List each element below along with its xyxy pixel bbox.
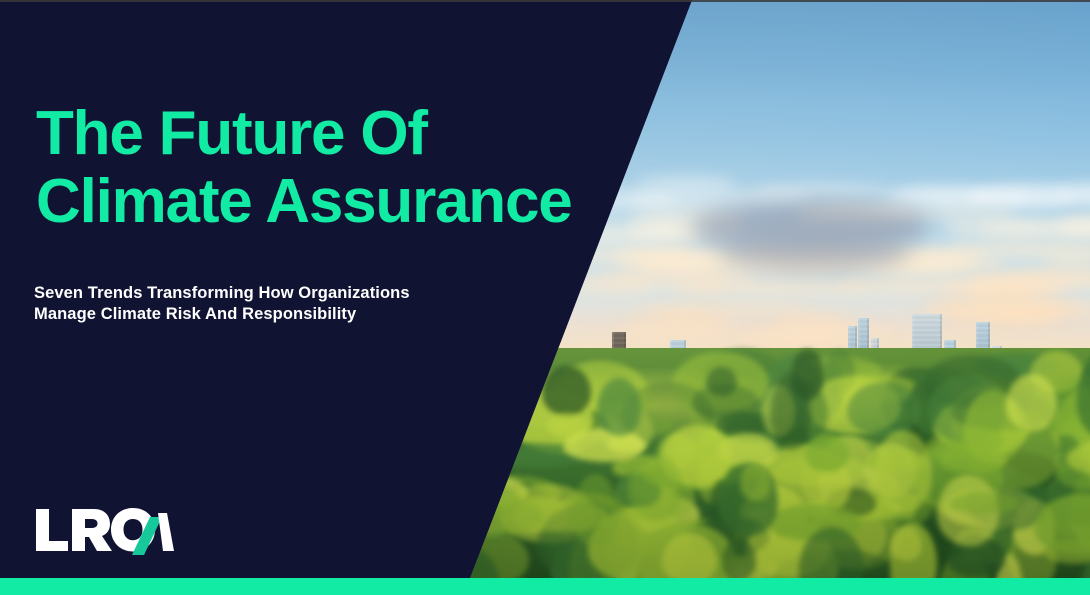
tree-cluster xyxy=(573,474,618,547)
tree-cluster xyxy=(740,463,772,501)
tree-cluster xyxy=(890,527,922,561)
page-title: The Future Of Climate Assurance xyxy=(36,100,572,236)
tree-cluster xyxy=(950,492,1019,514)
lrqa-logo-mark xyxy=(34,503,174,555)
lrqa-logo xyxy=(34,503,174,555)
bottom-accent-bar xyxy=(0,578,1090,595)
tree-cluster xyxy=(542,366,590,417)
tree-cluster xyxy=(805,434,849,471)
page-subtitle: Seven Trends Transforming How Organizati… xyxy=(34,283,410,325)
tree-cluster xyxy=(546,413,590,437)
cloud xyxy=(915,208,1019,221)
tree-cluster xyxy=(874,430,932,514)
cloud xyxy=(1041,255,1090,267)
slide-canvas: The Future Of Climate Assurance Seven Tr… xyxy=(0,0,1090,595)
cloud xyxy=(889,187,993,206)
tree-cluster xyxy=(628,454,682,519)
tree-cluster xyxy=(847,382,921,436)
tree-cluster xyxy=(692,384,759,420)
top-edge-line xyxy=(0,0,1090,2)
tree-cluster xyxy=(771,372,811,449)
cloud-mass xyxy=(720,232,910,272)
tree-cluster xyxy=(1006,374,1058,431)
